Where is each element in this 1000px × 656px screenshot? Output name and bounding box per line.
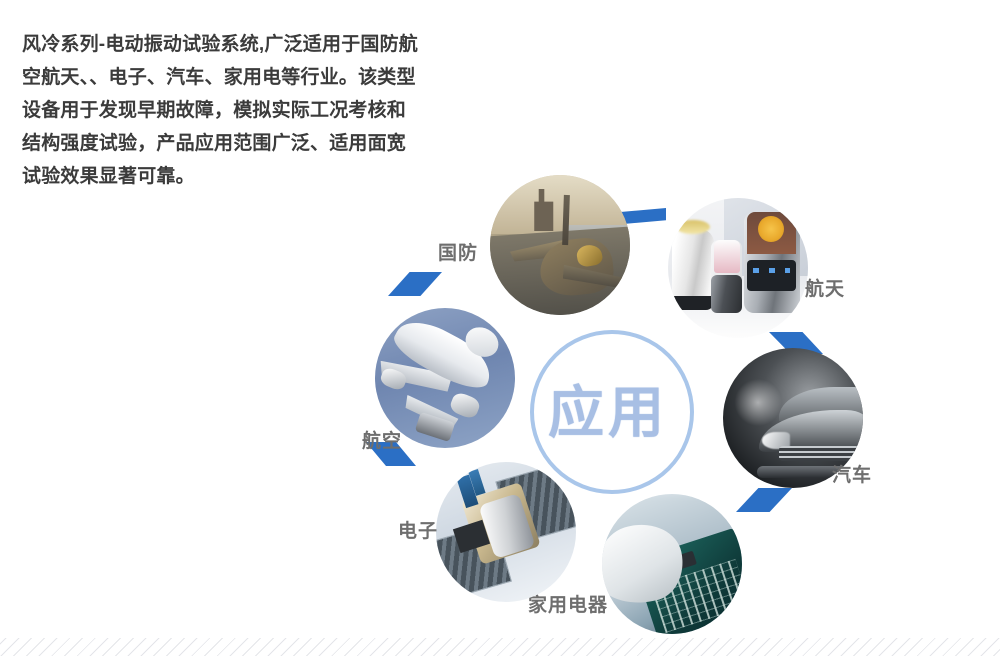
- fighter-jet-icon: [490, 175, 630, 315]
- kitchen-appliance-icon: [668, 198, 808, 338]
- circuit-board-icon: [602, 494, 742, 634]
- connector-aviation-defense: [388, 272, 442, 296]
- node-electronic-label: 电子: [398, 516, 438, 543]
- bottom-hatch-decoration: [0, 638, 1000, 656]
- node-electronic-image[interactable]: [436, 462, 576, 602]
- node-aerospace-image[interactable]: [668, 198, 808, 338]
- node-aerospace-label: 航天: [805, 274, 845, 301]
- connector-automotive-appliance: [736, 488, 792, 512]
- page-root: 风冷系列-电动振动试验系统,广泛适用于国防航空航天、、电子、汽车、家用电等行业。…: [0, 0, 1000, 656]
- node-defense-image[interactable]: [490, 175, 630, 315]
- application-diagram: 应用 国防 航天: [340, 150, 940, 650]
- node-automotive-label: 汽车: [832, 460, 872, 487]
- node-appliance-image[interactable]: [602, 494, 742, 634]
- node-defense-label: 国防: [438, 238, 478, 265]
- satellite-icon: [436, 462, 576, 602]
- node-aviation-label: 航空: [362, 426, 402, 453]
